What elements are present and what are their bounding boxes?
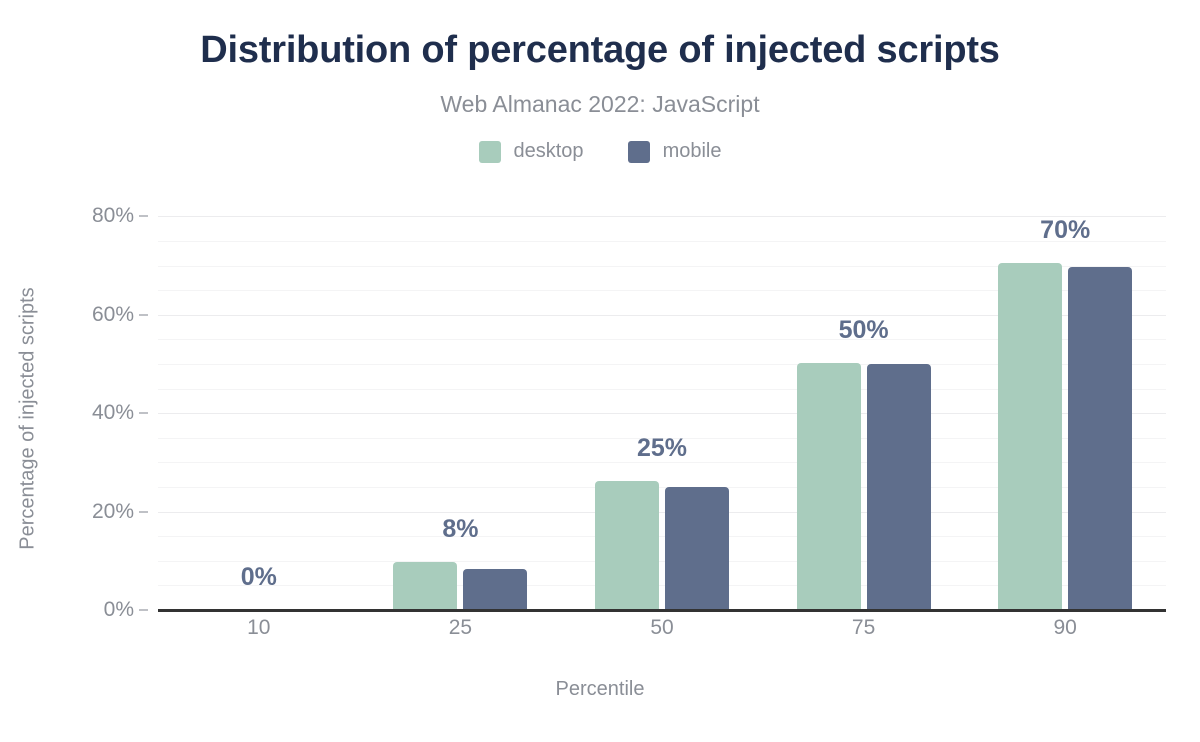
x-tick-label: 25 [449, 616, 472, 640]
chart-legend: desktopmobile [0, 140, 1200, 163]
x-axis-line [158, 609, 1166, 612]
x-tick-label: 50 [650, 616, 673, 640]
gridline-minor [158, 241, 1166, 242]
legend-swatch-icon [479, 141, 501, 163]
bar-mobile-p90[interactable] [1068, 267, 1132, 610]
plot-area: 0%8%25%50%70% [158, 204, 1166, 610]
bar-desktop-p75[interactable] [797, 363, 861, 610]
y-tick-mark [139, 215, 148, 217]
y-tick-label: 0% [104, 598, 134, 622]
legend-swatch-icon [628, 141, 650, 163]
bar-desktop-p90[interactable] [998, 263, 1062, 610]
chart-title: Distribution of percentage of injected s… [0, 30, 1200, 72]
y-tick-mark [139, 314, 148, 316]
bar-annotation-p90: 70% [1040, 216, 1090, 245]
bar-mobile-p50[interactable] [665, 487, 729, 610]
x-axis-ticks: 1025507590 [158, 616, 1166, 650]
bar-desktop-p50[interactable] [595, 481, 659, 610]
y-tick-label: 60% [92, 303, 134, 327]
x-tick-label: 75 [852, 616, 875, 640]
legend-item-desktop[interactable]: desktop [479, 140, 584, 163]
bar-mobile-p25[interactable] [463, 569, 527, 610]
chart-subtitle: Web Almanac 2022: JavaScript [0, 91, 1200, 119]
bar-annotation-p25: 8% [442, 515, 478, 544]
bar-annotation-p75: 50% [839, 316, 889, 345]
y-axis-title: Percentage of injected scripts [17, 254, 40, 584]
y-tick-label: 80% [92, 204, 134, 228]
bar-mobile-p75[interactable] [867, 364, 931, 610]
y-tick-label: 40% [92, 401, 134, 425]
legend-item-mobile[interactable]: mobile [628, 140, 722, 163]
bar-annotation-p50: 25% [637, 434, 687, 463]
x-tick-label: 10 [247, 616, 270, 640]
bar-annotation-p10: 0% [241, 563, 277, 592]
x-axis-title: Percentile [0, 678, 1200, 701]
bar-desktop-p25[interactable] [393, 562, 457, 610]
y-tick-mark [139, 412, 148, 414]
gridline-major [158, 216, 1166, 217]
legend-label: mobile [663, 140, 722, 163]
chart-figure: Distribution of percentage of injected s… [0, 0, 1200, 742]
x-tick-label: 90 [1054, 616, 1077, 640]
y-tick-mark [139, 609, 148, 611]
y-tick-mark [139, 511, 148, 513]
y-tick-label: 20% [92, 500, 134, 524]
legend-label: desktop [514, 140, 584, 163]
